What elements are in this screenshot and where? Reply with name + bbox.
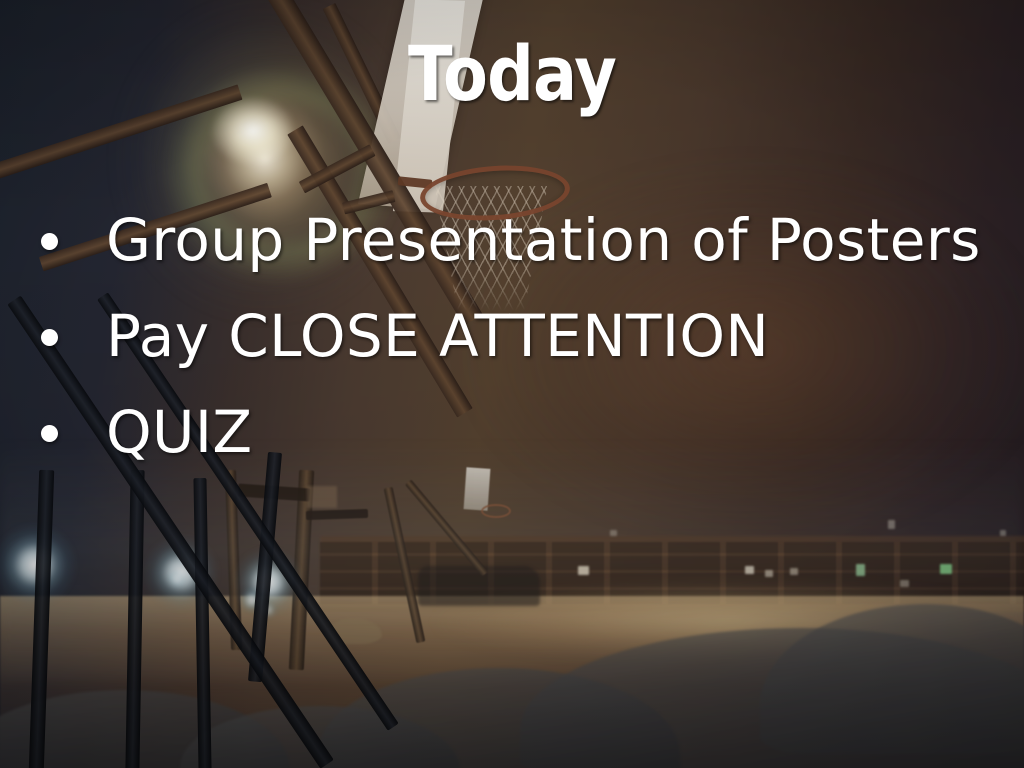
bullet-dot-icon [41,233,58,250]
slide-content: Today Group Presentation of Posters Pay … [0,0,1024,768]
bullet-item-text: QUIZ [106,402,253,463]
list-item: Group Presentation of Posters [28,198,996,284]
list-item: QUIZ [28,390,996,476]
bullet-item-text: Pay CLOSE ATTENTION [106,306,769,367]
bullet-dot-icon [41,329,58,346]
list-item: Pay CLOSE ATTENTION [28,294,996,380]
bullet-list: Group Presentation of Posters Pay CLOSE … [28,198,996,486]
slide-title: Today [72,36,953,112]
bullet-dot-icon [41,425,58,442]
bullet-item-text: Group Presentation of Posters [106,210,981,271]
presentation-slide: Today Group Presentation of Posters Pay … [0,0,1024,768]
